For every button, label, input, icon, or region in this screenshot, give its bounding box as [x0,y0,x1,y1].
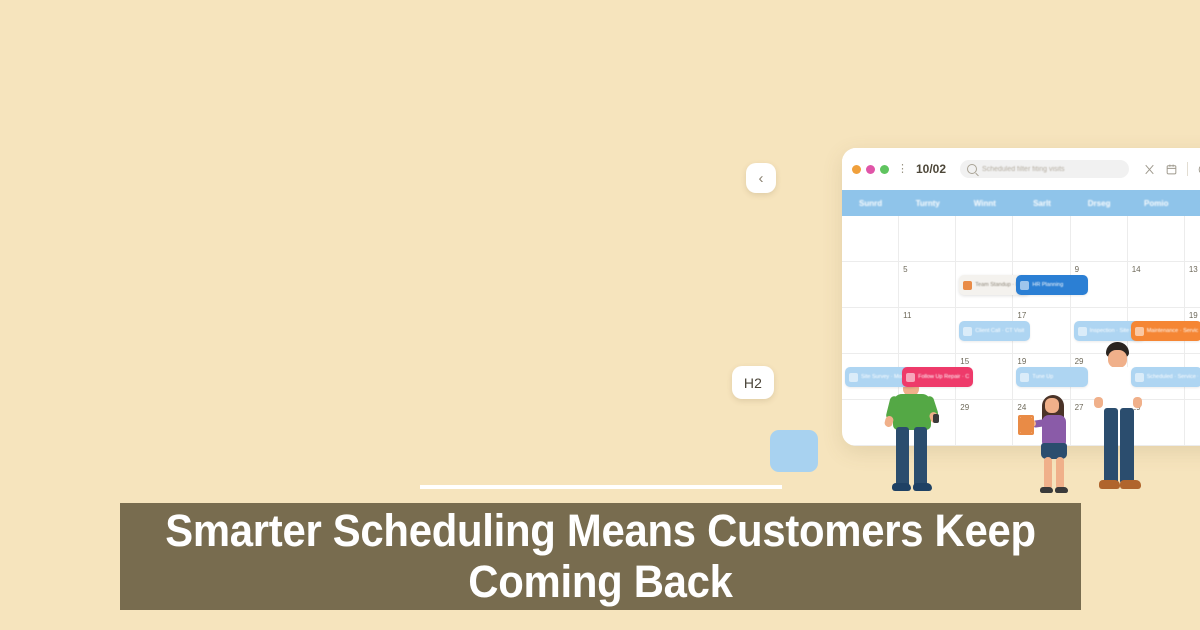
toolbar-divider [1187,162,1188,176]
page-title: Smarter Scheduling Means Customers Keep … [163,506,1038,608]
calendar-day-number: 15 [960,357,1008,366]
event-icon [849,373,858,382]
calendar-event-chip[interactable]: Scheduled · Service Call [1131,367,1200,387]
calendar-event-chip[interactable]: Follow Up Repair · Customer Visit [902,367,973,387]
calendar-icon[interactable] [1165,163,1178,176]
calendar-day-cell[interactable] [842,308,899,354]
calendar-weekday-1: Turnty [899,190,956,216]
traffic-lights[interactable] [852,165,889,174]
calendar-event-chip[interactable]: Client Call · CT Visit [959,321,1030,341]
calendar-day-number: 14 [1132,265,1180,274]
calendar-event-chip[interactable]: HR Planning [1016,275,1087,295]
calendar-toolbar-icons [1143,162,1200,176]
person-customer-standing [1090,342,1148,500]
back-button[interactable]: ‹ [746,163,776,193]
calendar-day-cell[interactable] [1071,216,1128,262]
window-minimize-dot[interactable] [866,165,875,174]
calendar-date-label: 10/02 [916,162,946,176]
calendar-day-cell[interactable] [1185,216,1200,262]
calendar-weekday-5: Pomio [1128,190,1185,216]
calendar-day-cell[interactable]: 5 [899,262,956,308]
calendar-event-chip[interactable]: Tune Up [1016,367,1087,387]
event-title: Maintenance · Service Run [1147,327,1198,335]
search-icon [967,164,977,174]
calendar-day-cell[interactable] [1013,216,1070,262]
headline-band: Smarter Scheduling Means Customers Keep … [120,503,1081,610]
calendar-day-number: 11 [903,311,951,320]
kebab-menu-icon[interactable]: ⋮ [897,164,907,175]
calendar-day-number: 29 [960,403,1008,412]
search-placeholder: Scheduled filter fiting visits [982,166,1064,173]
calendar-day-number: 17 [1017,311,1065,320]
h2-badge[interactable]: H2 [732,366,774,399]
h2-badge-label: H2 [744,375,762,391]
event-icon [963,281,972,290]
chevron-left-icon: ‹ [759,171,764,186]
person-woman-with-clipboard [1030,393,1078,500]
calendar-weekday-header: SunrdTurntyWinntSarltDrsegPomioTafu [842,190,1200,216]
calendar-search-input[interactable]: Scheduled filter fiting visits [960,160,1129,178]
calendar-day-number: 9 [1075,265,1123,274]
calendar-weekday-0: Sunrd [842,190,899,216]
calendar-day-cell[interactable] [1185,400,1200,446]
calendar-day-cell[interactable] [842,216,899,262]
event-title: HR Planning [1032,281,1063,289]
calendar-day-cell[interactable] [1128,216,1185,262]
event-icon [1020,281,1029,290]
calendar-day-cell[interactable]: 11 [899,308,956,354]
calendar-event-chip[interactable]: Maintenance · Service Run [1131,321,1200,341]
calendar-day-cell[interactable]: HR Planning [1013,262,1070,308]
calendar-day-number: 19 [1189,311,1200,320]
event-title: Tune Up [1032,373,1053,381]
promo-banner: ‹ H2 ⋮ 10/02 Scheduled filter fiting vis… [0,0,1200,630]
calendar-day-cell[interactable] [956,216,1013,262]
calendar-day-number: 19 [1017,357,1065,366]
calendar-day-cell[interactable]: 14 [1128,262,1185,308]
event-title: Scheduled · Service Call [1147,373,1198,381]
calendar-toolbar: ⋮ 10/02 Scheduled filter fiting visits [842,148,1200,190]
window-maximize-dot[interactable] [880,165,889,174]
calendar-weekday-3: Sarlt [1013,190,1070,216]
calendar-day-cell[interactable]: 29 [956,400,1013,446]
event-icon [906,373,915,382]
calendar-day-number: 5 [903,265,951,274]
event-title: Client Call · CT Visit [975,327,1024,335]
person-technician-with-cap [884,370,944,500]
calendar-day-cell[interactable] [842,262,899,308]
event-icon [1135,373,1144,382]
event-icon [1135,327,1144,336]
event-icon [1078,327,1087,336]
title-divider-rule [420,485,782,489]
calendar-day-cell[interactable] [899,216,956,262]
calendar-day-cell[interactable]: Team Standup · Review Plan [956,262,1013,308]
calendar-weekday-4: Drseg [1071,190,1128,216]
calendar-day-cell[interactable]: Client Call · CT Visit [956,308,1013,354]
scissors-icon[interactable] [1143,163,1156,176]
event-icon [1020,373,1029,382]
calendar-weekday-6: Tafu [1185,190,1200,216]
event-icon [963,327,972,336]
calendar-day-cell[interactable]: 13 [1185,262,1200,308]
calendar-weekday-2: Winnt [956,190,1013,216]
blue-swatch[interactable] [770,430,818,472]
event-title: Follow Up Repair · Customer Visit [918,373,969,381]
calendar-day-number: 13 [1189,265,1200,274]
window-close-dot[interactable] [852,165,861,174]
